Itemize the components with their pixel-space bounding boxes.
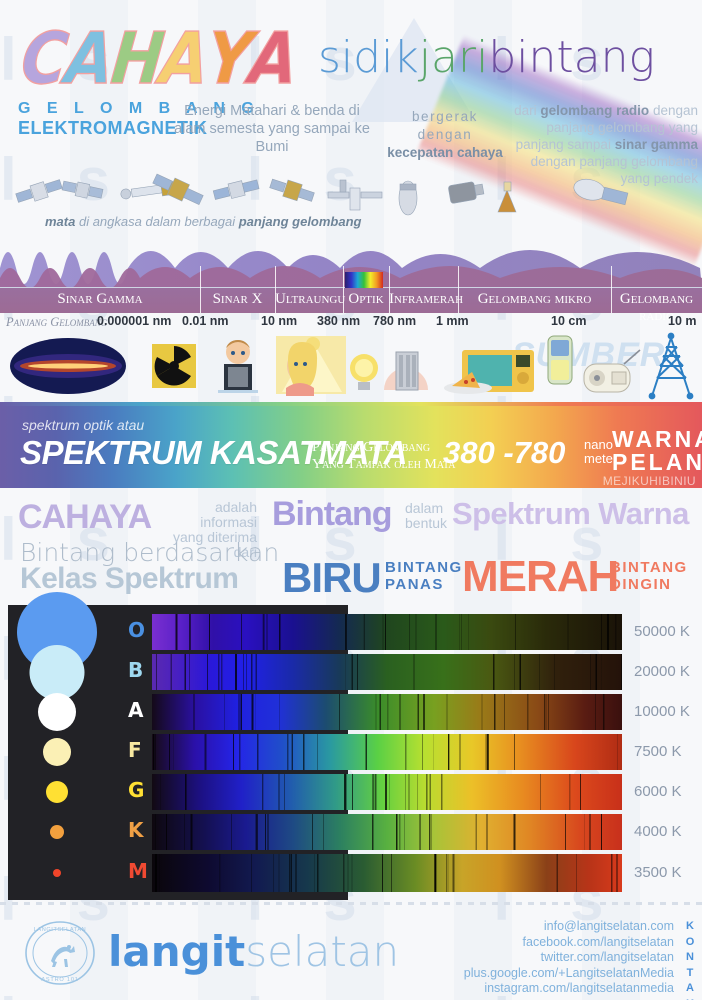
wavelength-value-6: 10 cm [551, 314, 586, 328]
sub-line-2: Yang Tampak oleh Mata [312, 456, 456, 473]
microwave-oven-icon [444, 350, 534, 394]
band-divider-1 [275, 266, 276, 313]
spectrum-strip-g [152, 774, 622, 810]
kontak-letter-3: T [684, 966, 696, 982]
infographic-page: ls ls ls ls ls ls ls ls ls ls ls ls ls l… [0, 0, 702, 1000]
contact-line-3[interactable]: plus.google.com/+LangitselatanMedia [464, 966, 674, 982]
spectrum-strip-m [152, 854, 622, 892]
bintang-panas-label: BINTANG PANAS [385, 559, 463, 593]
panjang-gelombang-sub: Panjang Gelombang Yang Tampak oleh Mata [312, 439, 456, 473]
band-label-inframerah: Inframerah [389, 291, 458, 308]
mata-mid: di angkasa dalam berbagai [75, 214, 238, 229]
gamma-sky-map-icon [10, 338, 126, 394]
mata-bold: mata [45, 214, 75, 229]
wavelength-value-1: 0.01 nm [182, 314, 229, 328]
band-label-optik: Optik [343, 291, 389, 308]
col4-a: dari [514, 103, 540, 118]
col4-radio: gelombang radio [540, 103, 649, 118]
dalam-bentuk-text: dalam bentuk [405, 501, 447, 531]
kontak-letter-2: N [684, 950, 696, 966]
xray-patient-icon [218, 340, 258, 393]
warna-pelangi-heading: WARNA PELANGI [612, 428, 696, 474]
footer: LANGITSELATAN ASTRO 101 langitselatan in… [0, 905, 702, 1000]
dingin-l2: DINGIN [610, 576, 688, 593]
visible-spectrum-bar: spektrum optik atau SPEKTRUM KASATMATA P… [0, 406, 702, 488]
kontak-letter-1: O [684, 935, 696, 951]
panas-l1: BINTANG [385, 559, 463, 576]
band-divider-0 [200, 266, 201, 313]
sub-line-1: Panjang Gelombang [312, 439, 456, 456]
brand-name: langitselatan [108, 927, 399, 976]
star-disc-a [38, 693, 76, 731]
page-title: CAHAYA [22, 22, 296, 95]
spectrum-band-names: Sinar GammaSinar XUltraunguOptikInframer… [0, 287, 702, 313]
dalam-l1: dalam [405, 501, 447, 516]
source-icons-strip [0, 330, 702, 402]
panas-l2: PANAS [385, 576, 463, 593]
radio-tower-icon [650, 334, 693, 399]
band-label-ultraungu: Ultraungu [275, 291, 343, 308]
brand-selatan: selatan [245, 927, 399, 976]
temperature-label-f: 7500 K [634, 743, 682, 760]
contact-line-4[interactable]: instagram.com/langitselatanmedia [464, 981, 674, 997]
temperature-label-b: 20000 K [634, 663, 690, 680]
title-letter-1: A [61, 17, 116, 101]
spectrum-strip-b [152, 654, 622, 690]
temperature-label-k: 4000 K [634, 823, 682, 840]
star-disc-b [30, 645, 85, 700]
heater-radiator-icon [384, 352, 428, 390]
spectral-class-g: G [128, 778, 144, 802]
temperature-label-g: 6000 K [634, 783, 682, 800]
band-divider-3 [389, 266, 390, 313]
wavelength-value-5: 1 mm [436, 314, 469, 328]
footer-divider [0, 902, 702, 905]
radiation-hazard-icon [152, 344, 196, 388]
bintang-word: Bintang [272, 495, 392, 534]
spectral-class-f: F [128, 738, 142, 762]
wavelength-row: Panjang Gelombang 0.000001 nm0.01 nm10 n… [0, 313, 702, 333]
svg-text:ASTRO 101: ASTRO 101 [41, 977, 78, 983]
kontak-letter-4: A [684, 981, 696, 997]
temperature-label-a: 10000 K [634, 703, 690, 720]
spectrum-strip-a [152, 694, 622, 730]
star-disc-k [50, 825, 64, 839]
adalah-l1: adalah informasi [155, 500, 257, 530]
mobile-phone-icon [548, 336, 572, 384]
spectral-class-chart: O50000 KB20000 KA10000 KF7500 KG6000 KK4… [0, 605, 702, 905]
header-col-energy: Energi Matahari & benda di alam semesta … [172, 102, 372, 156]
kontak-vertical-label: KONTAK [684, 919, 696, 1000]
wavelength-axis-label: Panjang Gelombang [6, 315, 107, 330]
kelas-spektrum-heading: Kelas Spektrum [20, 562, 238, 596]
contact-line-1[interactable]: facebook.com/langitselatan [464, 935, 674, 951]
bintang-dingin-label: BINTANG DINGIN [610, 559, 688, 593]
biru-word: BIRU [282, 554, 381, 602]
wavelength-value-3: 380 nm [317, 314, 360, 328]
cahaya-word: CAHAYA [18, 498, 151, 537]
brand-langit: langit [108, 927, 245, 976]
contact-line-0[interactable]: info@langitselatan.com [464, 919, 674, 935]
band-label-sinar-x: Sinar X [200, 291, 275, 308]
warna-label: WARNA [612, 428, 696, 451]
band-label-sinar-gamma: Sinar Gamma [0, 291, 200, 308]
col4-gamma: sinar gamma [615, 137, 698, 152]
wavelength-value-4: 780 nm [373, 314, 416, 328]
kontak-letter-5: K [684, 997, 696, 1000]
spectrum-strip-f [152, 734, 622, 770]
page-subtitle: sidik jari bintang [318, 32, 655, 83]
spektrum-warna-word: Spektrum Warna [452, 496, 689, 532]
spectral-class-b: B [128, 658, 143, 682]
header-col-speed: bergerak dengan kecepatan cahaya [385, 108, 505, 162]
temperature-label-o: 50000 K [634, 623, 690, 640]
light-bulb-icon [350, 354, 378, 390]
wavelength-value-2: 10 nm [261, 314, 297, 328]
star-disc-g [46, 781, 68, 803]
spectral-class-a: A [128, 698, 143, 722]
pelangi-label: PELANGI [612, 451, 696, 474]
radio-receiver-icon [584, 350, 640, 392]
sun-tanning-woman-icon [276, 336, 346, 396]
kontak-letter-0: K [684, 919, 696, 935]
contact-list: info@langitselatan.comfacebook.com/langi… [464, 919, 674, 997]
mejikuhibiniu-label: MEJIKUHIBINIU [598, 474, 696, 488]
spectral-class-o: O [128, 618, 145, 642]
wavelength-value-7: 10 m [668, 314, 697, 328]
visible-spectrum-topline [0, 402, 702, 406]
merah-word: MERAH [462, 552, 618, 602]
star-disc-m [53, 869, 61, 877]
contact-line-2[interactable]: twitter.com/langitselatan [464, 950, 674, 966]
spectral-class-k: K [128, 818, 144, 842]
band-label-gelombang-mikro: Gelombang mikro [458, 291, 611, 308]
dalam-l2: bentuk [405, 516, 447, 531]
svg-text:LANGITSELATAN: LANGITSELATAN [34, 927, 87, 933]
temperature-label-m: 3500 K [634, 864, 682, 881]
mata-panjang: panjang gelombang [239, 214, 362, 229]
wavelength-range-value: 380 -780 [443, 435, 565, 471]
langitselatan-seal-logo: LANGITSELATAN ASTRO 101 [24, 917, 96, 989]
mata-angkasa-label: mata di angkasa dalam berbagai panjang g… [45, 214, 362, 229]
title-letter-5: A [246, 17, 301, 101]
star-disc-f [43, 738, 71, 766]
spektrum-optik-eyebrow: spektrum optik atau [22, 417, 144, 433]
optical-mini-spectrum-icon [345, 272, 383, 288]
word-block: CAHAYA adalah informasi yang diterima da… [0, 492, 702, 604]
subtitle-word-1: jari [419, 32, 489, 83]
band-divider-4 [458, 266, 459, 313]
band-divider-2 [343, 266, 344, 313]
band-divider-5 [611, 266, 612, 313]
dingin-l1: BINTANG [610, 559, 688, 576]
bergerak-label: bergerak dengan [385, 108, 505, 144]
wavelength-value-0: 0.000001 nm [97, 314, 171, 328]
spectrum-strip-o [152, 614, 622, 650]
spectrum-strip-k [152, 814, 622, 850]
subtitle-word-0: sidik [318, 32, 419, 83]
spectral-class-m: M [128, 859, 148, 883]
kecepatan-label: kecepatan cahaya [387, 145, 503, 160]
subtitle-word-2: bintang [488, 32, 655, 83]
